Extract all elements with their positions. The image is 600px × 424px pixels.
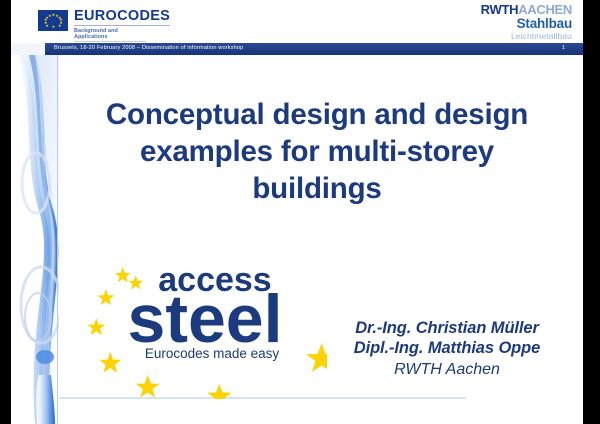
access-steel-tagline: Eurocodes made easy [145,346,280,361]
rwth-wordmark: RWTHAACHEN [481,3,572,16]
rwth-institute-name: Stahlbau [481,17,572,31]
slide-page-number: 1 [562,45,565,51]
author-block: Dr.-Ing. Christian Müller Dipl.-Ing. Mat… [311,318,583,381]
rwth-wordmark-bold: RWTH [481,2,519,17]
conference-strip: Brussels, 18-20 February 2008 – Dissemin… [11,43,583,55]
rwth-wordmark-light: AACHEN [518,2,572,17]
slide-header: ★ ★ ★ ★ ★ ★ ★ ★ ★ ★ ★ ★ EUROCODES Backgr… [11,0,583,42]
slide-title-line-3: buildings [67,170,567,207]
strip-left-accent [11,43,45,55]
eu-flag-icon: ★ ★ ★ ★ ★ ★ ★ ★ ★ ★ ★ ★ [38,10,68,31]
eurocodes-title: EUROCODES [74,9,170,26]
rwth-aachen-logo: RWTHAACHEN Stahlbau Leichtmetallbau [481,3,572,40]
slide-title-line-2: examples for multi-storey [67,133,567,170]
slide-title: Conceptual design and design examples fo… [67,96,567,207]
author-affiliation: RWTH Aachen [311,360,583,381]
decorative-ribbon-graphic [11,55,59,424]
content-divider-line [57,55,58,424]
rwth-institute-subname: Leichtmetallbau [481,32,572,41]
eurocodes-logo: ★ ★ ★ ★ ★ ★ ★ ★ ★ ★ ★ ★ EUROCODES Backgr… [38,10,170,42]
author-name-2: Dipl.-Ing. Matthias Oppe [311,338,583,358]
access-steel-logo: access steel Eurocodes made easy [77,254,327,399]
eurocodes-subtitle: Background and Applications [74,28,146,42]
slide-viewport: ★ ★ ★ ★ ★ ★ ★ ★ ★ ★ ★ ★ EUROCODES Backgr… [0,0,600,424]
presentation-slide: ★ ★ ★ ★ ★ ★ ★ ★ ★ ★ ★ ★ EUROCODES Backgr… [11,0,583,424]
slide-title-line-1: Conceptual design and design [67,96,567,133]
author-name-1: Dr.-Ing. Christian Müller [311,318,583,338]
conference-info-text: Brussels, 18-20 February 2008 – Dissemin… [54,45,243,51]
